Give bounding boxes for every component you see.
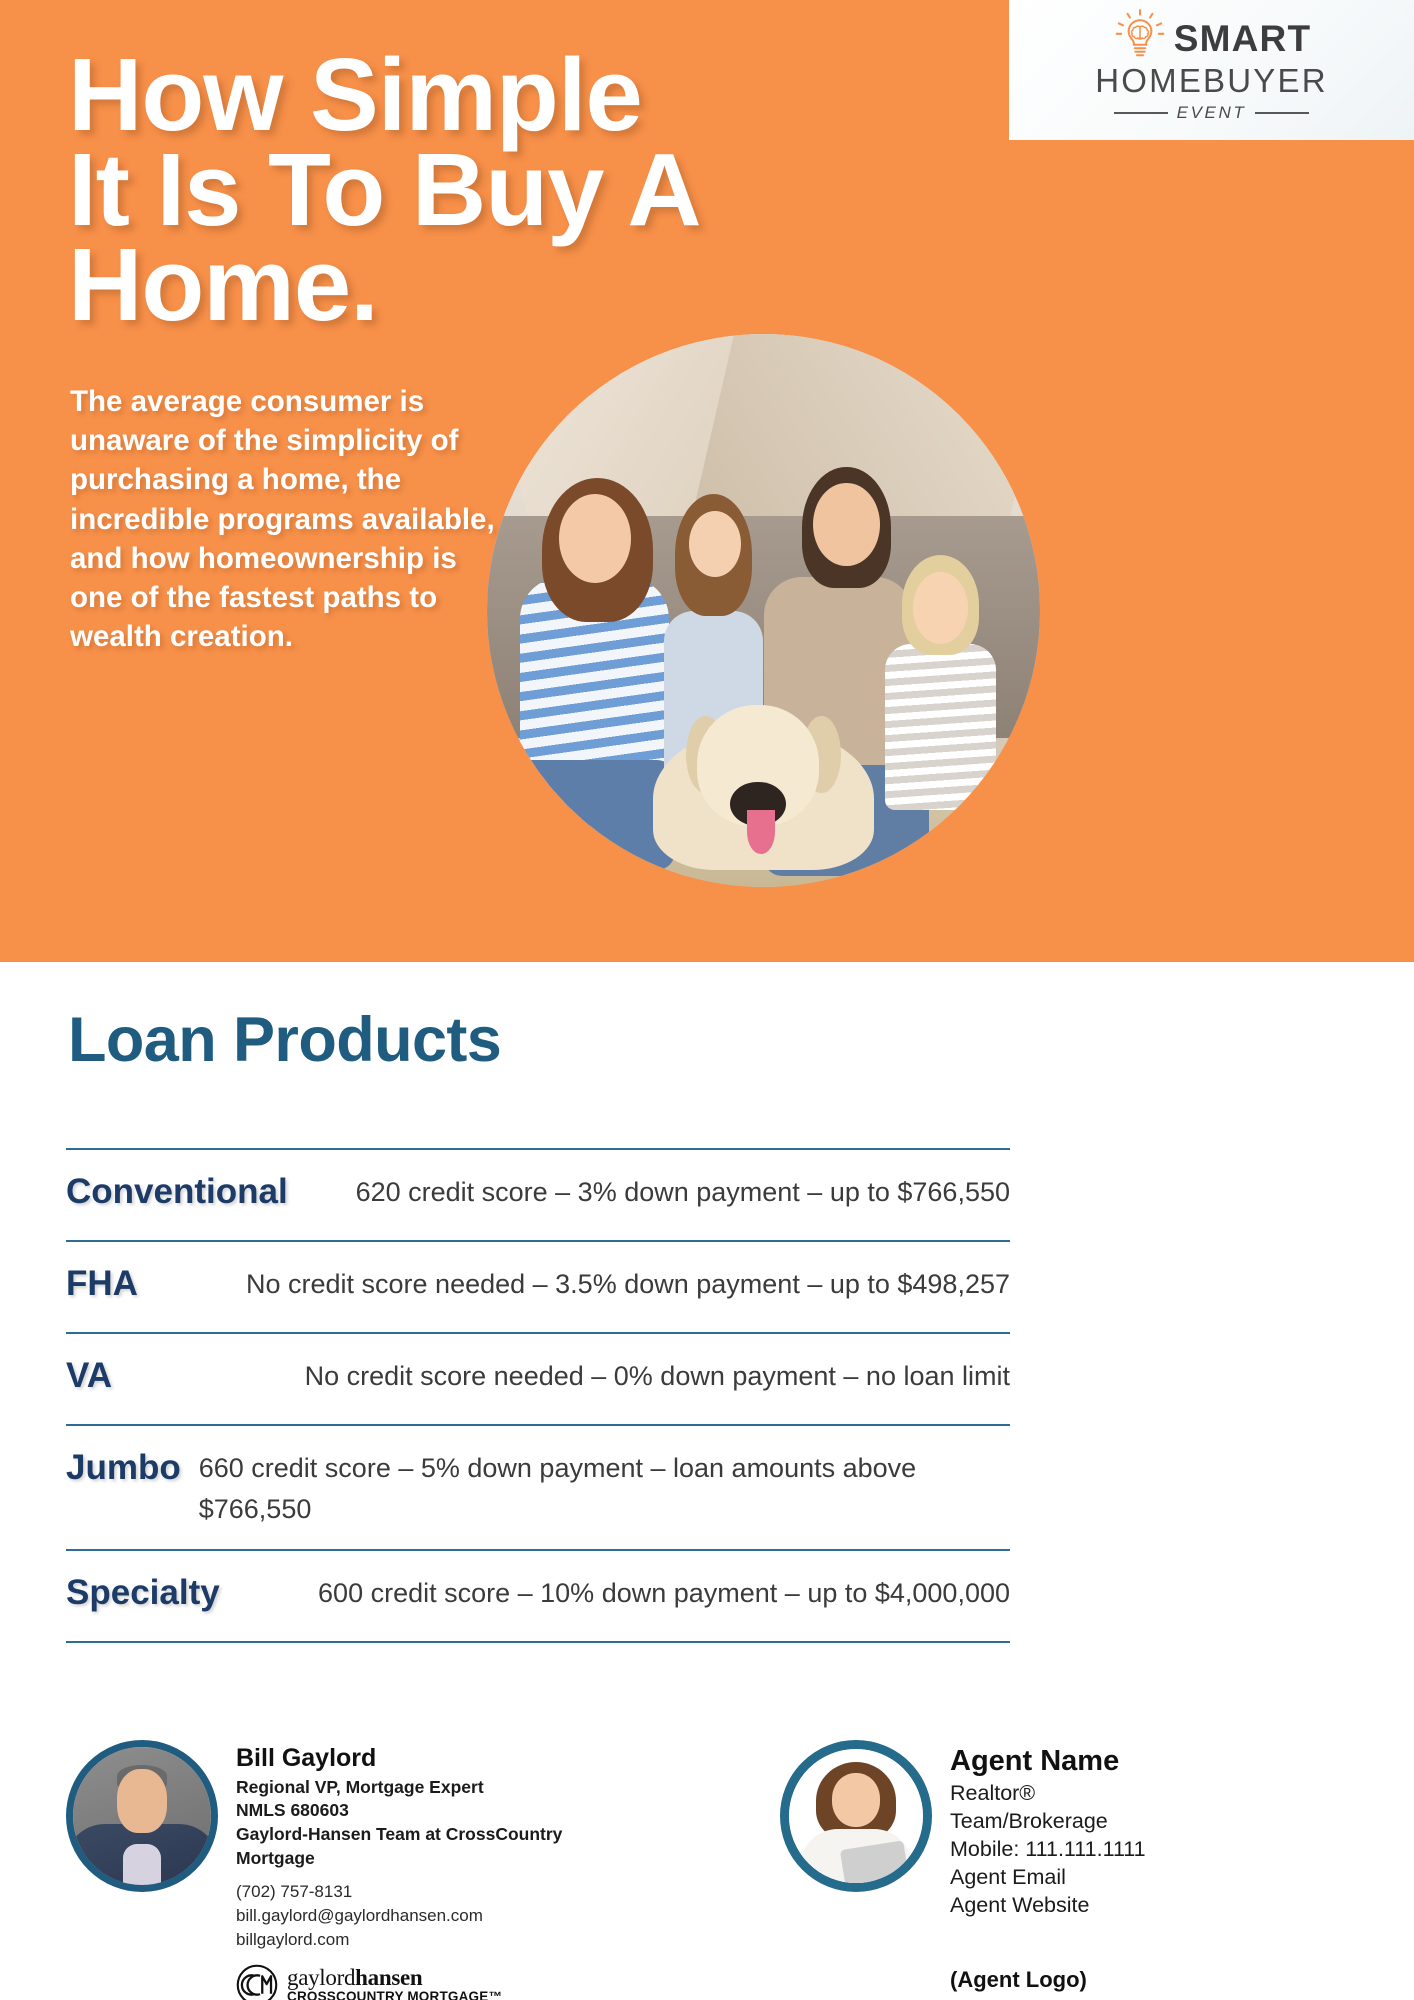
logo-rule-left [1114,112,1168,114]
flyer-page: How Simple It Is To Buy A Home. The aver… [0,0,1414,2000]
loan-officer-phone[interactable]: (702) 757-8131 [236,1880,626,1904]
headline-line-3: Home. [68,238,928,333]
loan-desc-fha: No credit score needed – 3.5% down payme… [138,1264,1010,1305]
agent-email[interactable]: Agent Email [950,1864,1380,1892]
loan-officer-team: Gaylord-Hansen Team at CrossCountry Mort… [236,1823,626,1871]
loan-label-jumbo: Jumbo [66,1448,181,1489]
agent-headshot [780,1740,932,1892]
loan-officer-email[interactable]: bill.gaylord@gaylordhansen.com [236,1904,626,1928]
loan-desc-conventional: 620 credit score – 3% down payment – up … [288,1172,1010,1213]
table-row: VA No credit score needed – 0% down paym… [66,1332,1010,1424]
loan-officer-nmls: NMLS 680603 [236,1799,626,1823]
ccm-logo-tagline: CROSSCOUNTRY MORTGAGE™ [287,1990,502,2000]
loan-officer-website[interactable]: billgaylord.com [236,1928,626,1952]
ccm-logo-wordmark: gaylordhansen [287,1965,422,1990]
loan-desc-va: No credit score needed – 0% down payment… [112,1356,1010,1397]
ccm-monogram-icon [236,1964,278,2000]
loan-label-fha: FHA [66,1264,138,1305]
loan-label-specialty: Specialty [66,1573,220,1614]
page-title: How Simple It Is To Buy A Home. [68,48,928,332]
loan-label-conventional: Conventional [66,1172,288,1213]
table-row: Conventional 620 credit score – 3% down … [66,1148,1010,1240]
logo-word-event: EVENT [1177,103,1247,123]
loan-products-heading: Loan Products [68,1004,501,1076]
hero-subcopy: The average consumer is unaware of the s… [70,382,500,657]
loan-label-va: VA [66,1356,112,1397]
table-row: FHA No credit score needed – 3.5% down p… [66,1240,1010,1332]
logo-word-smart: SMART [1174,16,1312,57]
table-row: Specialty 600 credit score – 10% down pa… [66,1549,1010,1643]
loan-desc-specialty: 600 credit score – 10% down payment – up… [220,1573,1010,1614]
smart-homebuyer-event-logo: SMART HOMEBUYER EVENT [1009,0,1414,140]
agent-card: Agent Name Realtor® Team/Brokerage Mobil… [780,1740,1380,1993]
headline-line-1: How Simple [68,48,928,143]
agent-mobile[interactable]: Mobile: 111.111.1111 [950,1836,1380,1864]
family-with-dog-photo [487,334,1040,887]
lightbulb-brain-icon [1112,8,1168,64]
agent-logo-placeholder: (Agent Logo) [950,1967,1380,1993]
agent-role: Realtor® [950,1780,1380,1808]
agent-brokerage: Team/Brokerage [950,1808,1380,1836]
loan-officer-name: Bill Gaylord [236,1744,626,1774]
logo-rule-right [1255,112,1309,114]
logo-word-homebuyer: HOMEBUYER [1095,63,1328,100]
agent-name: Agent Name [950,1744,1380,1779]
bill-gaylord-headshot [66,1740,218,1892]
loan-officer-title: Regional VP, Mortgage Expert [236,1776,626,1800]
gaylord-hansen-ccm-logo: gaylordhansen CROSSCOUNTRY MORTGAGE™ [236,1964,626,2000]
table-row: Jumbo 660 credit score – 5% down payment… [66,1424,1010,1549]
loan-desc-jumbo: 660 credit score – 5% down payment – loa… [181,1448,1010,1529]
loan-products-table: Conventional 620 credit score – 3% down … [66,1148,1010,1643]
agent-website[interactable]: Agent Website [950,1892,1380,1920]
headline-line-2: It Is To Buy A [68,143,928,238]
loan-officer-card: Bill Gaylord Regional VP, Mortgage Exper… [66,1740,626,2000]
